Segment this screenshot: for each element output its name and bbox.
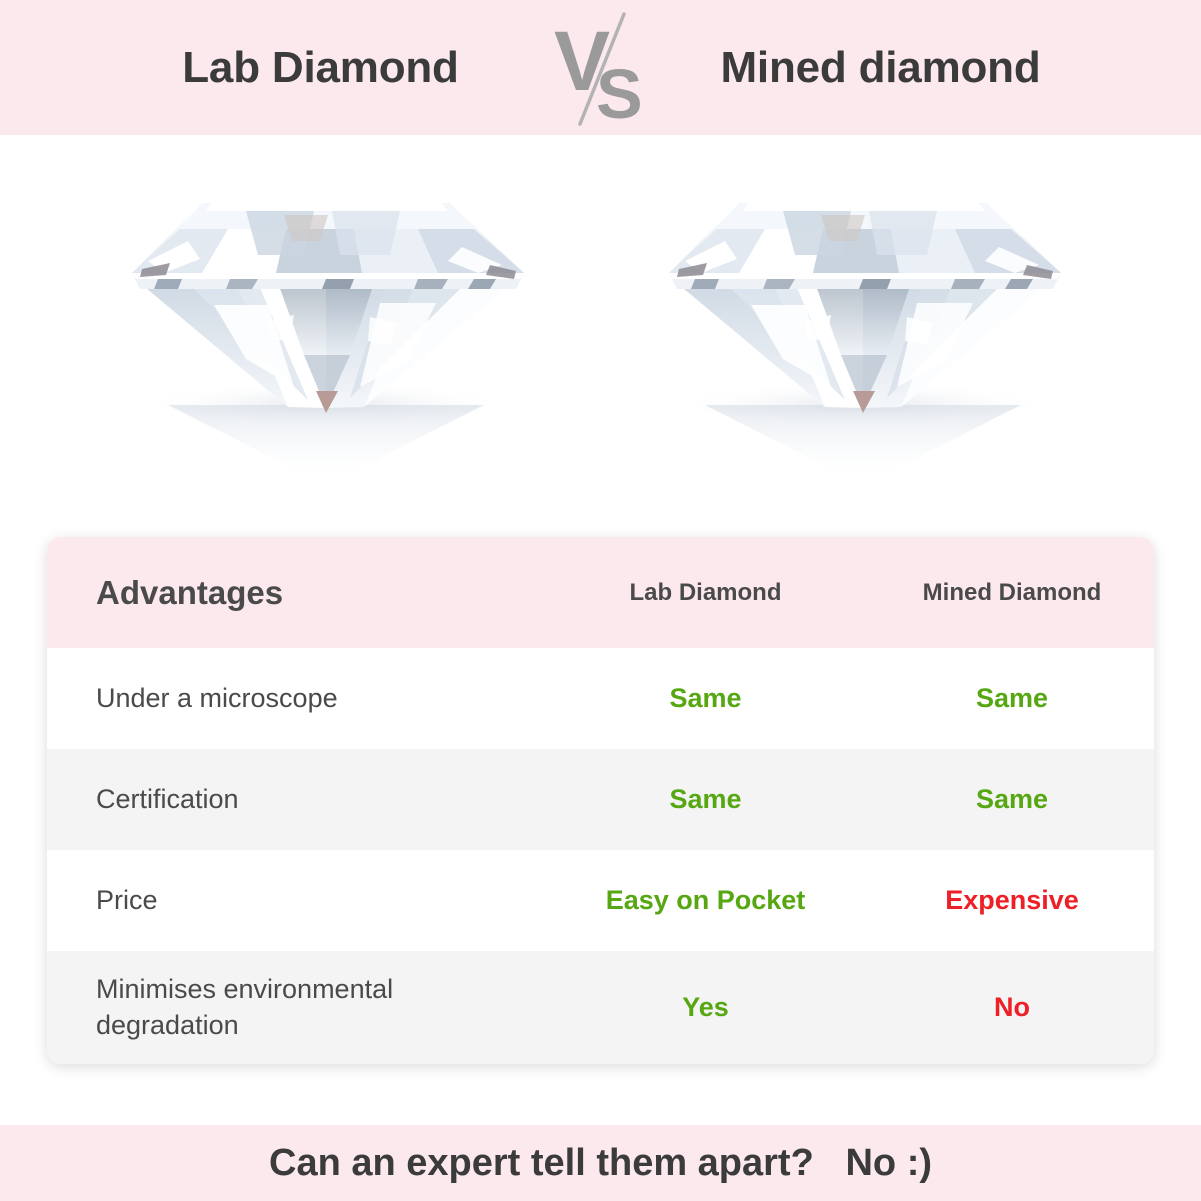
table-cell-mined: Same bbox=[870, 648, 1154, 749]
vs-badge: V S bbox=[536, 8, 666, 128]
table-header-row: Advantages Lab Diamond Mined Diamond bbox=[47, 537, 1154, 648]
feature-label: Certification bbox=[96, 782, 239, 818]
feature-label: Minimises environmental degradation bbox=[96, 972, 526, 1043]
comparison-table-card: Advantages Lab Diamond Mined Diamond Und… bbox=[47, 537, 1154, 1064]
table-cell-lab: Easy on Pocket bbox=[541, 850, 870, 951]
table-cell-lab: Same bbox=[541, 749, 870, 850]
table-cell-mined: Same bbox=[870, 749, 1154, 850]
feature-label: Under a microscope bbox=[96, 681, 338, 717]
infographic-page: Lab Diamond V S Mined diamond bbox=[0, 0, 1201, 1201]
diamond-stage bbox=[0, 135, 1201, 530]
table-cell-mined: Expensive bbox=[870, 850, 1154, 951]
table-cell-feature: Certification bbox=[47, 749, 541, 850]
lab-value: Same bbox=[669, 683, 741, 714]
table-header-mined-label: Mined Diamond bbox=[923, 579, 1102, 607]
header-title-mined: Mined diamond bbox=[666, 43, 1096, 93]
table-row: Certification Same Same bbox=[47, 749, 1154, 850]
table-header-lab: Lab Diamond bbox=[541, 537, 870, 648]
top-banner: Lab Diamond V S Mined diamond bbox=[0, 0, 1201, 135]
feature-label: Price bbox=[96, 883, 158, 919]
footer-banner: Can an expert tell them apart? No :) bbox=[0, 1125, 1201, 1201]
footer-question: Can an expert tell them apart? No :) bbox=[269, 1142, 932, 1185]
vs-letters: V S bbox=[554, 14, 643, 128]
table-header-feature: Advantages bbox=[47, 537, 541, 648]
diamond-image-lab bbox=[118, 155, 538, 485]
mined-value: No bbox=[994, 992, 1030, 1023]
table-cell-mined: No bbox=[870, 951, 1154, 1064]
diamond-image-mined bbox=[655, 155, 1075, 485]
table-cell-feature: Under a microscope bbox=[47, 648, 541, 749]
mined-value: Same bbox=[976, 784, 1048, 815]
table-row: Price Easy on Pocket Expensive bbox=[47, 850, 1154, 951]
header-title-lab: Lab Diamond bbox=[106, 43, 536, 93]
table-header-feature-label: Advantages bbox=[96, 574, 283, 612]
table-cell-lab: Yes bbox=[541, 951, 870, 1064]
lab-value: Easy on Pocket bbox=[606, 885, 806, 916]
diamond-girdle bbox=[132, 273, 524, 289]
diamond-reflection bbox=[168, 405, 484, 485]
table-cell-feature: Minimises environmental degradation bbox=[47, 951, 541, 1064]
table-header-lab-label: Lab Diamond bbox=[629, 579, 781, 607]
table-cell-lab: Same bbox=[541, 648, 870, 749]
table-row: Under a microscope Same Same bbox=[47, 648, 1154, 749]
mined-value: Expensive bbox=[945, 885, 1079, 916]
diamond-crown bbox=[132, 199, 524, 273]
table-header-mined: Mined Diamond bbox=[870, 537, 1154, 648]
table-cell-feature: Price bbox=[47, 850, 541, 951]
mined-value: Same bbox=[976, 683, 1048, 714]
lab-value: Same bbox=[669, 784, 741, 815]
lab-value: Yes bbox=[682, 992, 729, 1023]
table-row: Minimises environmental degradation Yes … bbox=[47, 951, 1154, 1064]
